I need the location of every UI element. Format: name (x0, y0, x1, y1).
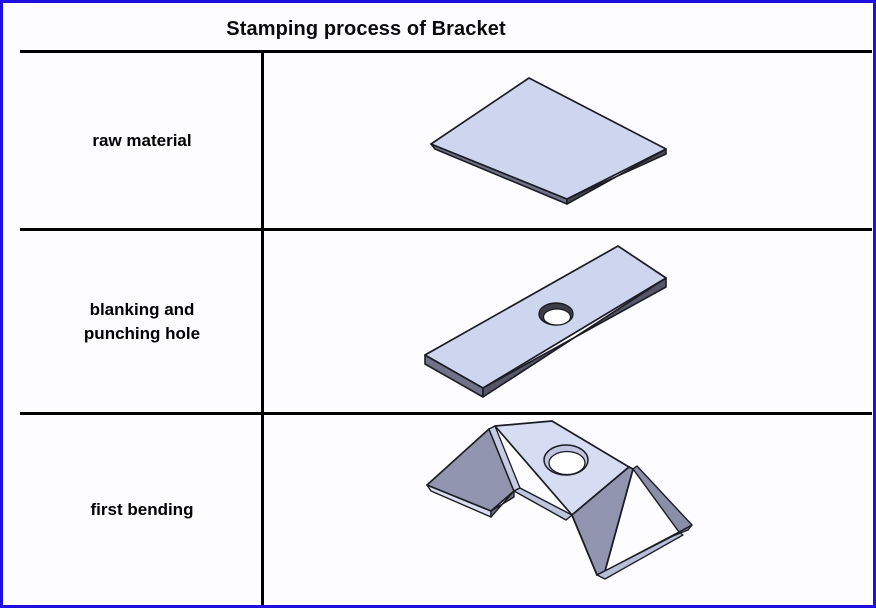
row-label-text: blanking and punching hole (84, 298, 200, 345)
row-label-cell-first-bending: first bending (23, 415, 261, 605)
row-figure-cell-blanking-punching (261, 231, 872, 412)
table-title-row: Stamping process of Bracket (20, 8, 872, 50)
row-label-text: first bending (91, 498, 194, 521)
table-row: blanking and punching hole (23, 231, 872, 412)
flat-plate-3d-illustration (417, 61, 717, 221)
row-figure-cell-raw-material (261, 53, 872, 228)
row-figure-cell-first-bending (261, 415, 872, 605)
punched-hole (544, 445, 588, 475)
screenshot-root: Stamping process of Bracket raw material… (0, 0, 876, 608)
row-label-text: raw material (92, 129, 191, 152)
bent-bracket-3d-illustration (417, 419, 717, 601)
page-title: Stamping process of Bracket (226, 18, 665, 41)
row-label-cell-raw-material: raw material (23, 53, 261, 228)
row-label-cell-blanking-punching: blanking and punching hole (23, 231, 261, 412)
punched-hole (539, 303, 573, 325)
table-row: raw material (23, 53, 872, 228)
blanked-strip-with-hole-3d-illustration (417, 237, 717, 407)
table-row: first bending (23, 415, 872, 605)
